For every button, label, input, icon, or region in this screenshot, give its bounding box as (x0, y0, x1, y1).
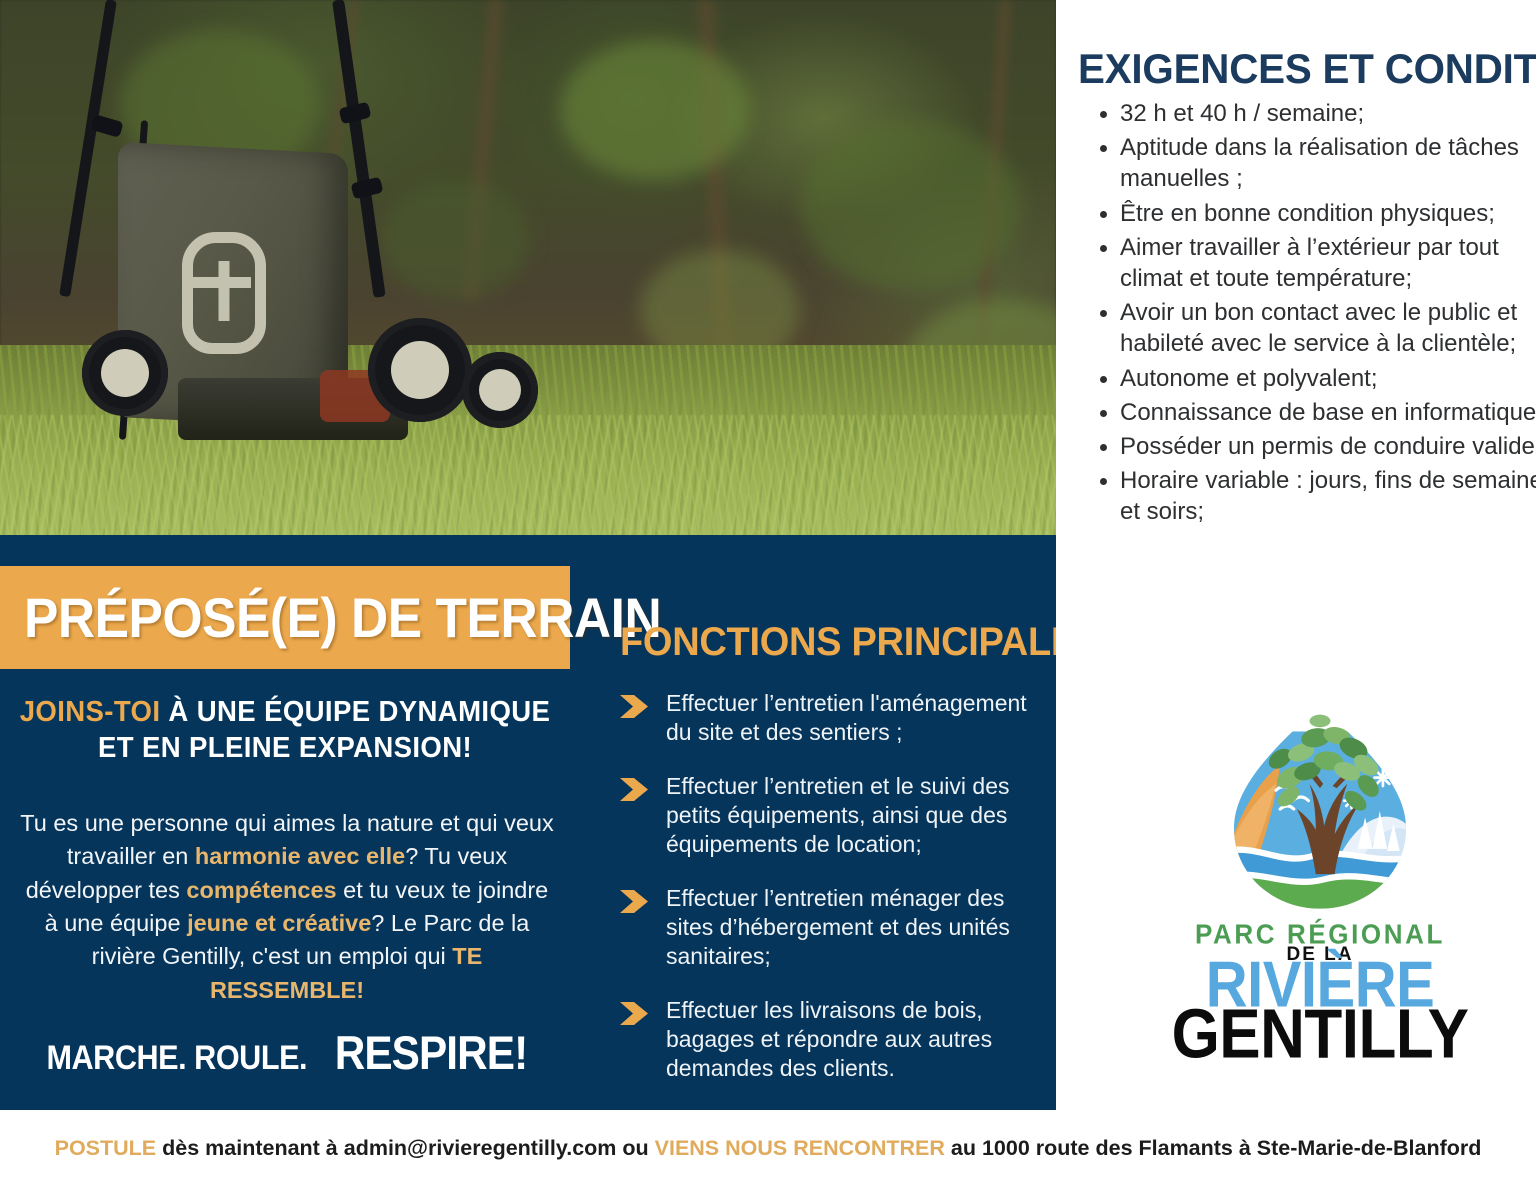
slogan-big: RESPIRE! (334, 1025, 527, 1080)
functions-list: Effectuer l’entretien l'aménagement du s… (620, 689, 1030, 1083)
tagline-rest: À UNE ÉQUIPE DYNAMIQUE ET EN PLEINE EXPA… (98, 696, 550, 764)
function-text: Effectuer les livraisons de bois, bagage… (666, 996, 1030, 1083)
function-text: Effectuer l’entretien ménager des sites … (666, 884, 1030, 971)
requirement-item: Horaire variable : jours, fins de semain… (1120, 465, 1536, 527)
lawn-mower (70, 0, 590, 500)
footer-cta-postule: POSTULE (55, 1136, 157, 1160)
requirement-item: Connaissance de base en informatique (1120, 397, 1536, 428)
function-item: Effectuer l’entretien ménager des sites … (620, 884, 1030, 971)
mower-wheel (82, 330, 168, 416)
function-item: Effectuer les livraisons de bois, bagage… (620, 996, 1030, 1083)
functions-section: FONCTIONS PRINCIPALES Effectuer l’entret… (620, 620, 1030, 1108)
footer-bar: POSTULE dès maintenant à admin@rivierege… (0, 1110, 1536, 1187)
requirement-item: Aptitude dans la réalisation de tâches m… (1120, 132, 1536, 194)
requirement-item: Autonome et polyvalent; (1120, 363, 1536, 394)
foliage-blob (800, 120, 1020, 290)
requirements-title: EXIGENCES ET CONDITIONS (1078, 45, 1536, 93)
tagline: JOINS-TOI À UNE ÉQUIPE DYNAMIQUE ET EN P… (14, 695, 556, 767)
logo-wordmark: PARC RÉGIONAL DE LA RIVIÈRE GENTILLY (1140, 921, 1500, 1066)
requirement-item: Posséder un permis de conduire valide; (1120, 431, 1536, 462)
chevron-right-icon (620, 776, 650, 803)
mower-wheel (462, 352, 538, 428)
handle-grip (339, 102, 372, 125)
footer-contact-line: POSTULE dès maintenant à admin@rivierege… (55, 1136, 1482, 1161)
footer-cta-rencontrer: VIENS NOUS RENCONTRER (655, 1136, 945, 1160)
hero-photo (0, 0, 1056, 535)
job-title: PRÉPOSÉ(E) DE TERRAIN (24, 585, 661, 650)
requirements-list: 32 h et 40 h / semaine; Aptitude dans la… (1100, 98, 1536, 530)
tagline-highlight: JOINS-TOI (20, 696, 161, 728)
requirement-item: 32 h et 40 h / semaine; (1120, 98, 1536, 129)
function-item: Effectuer l’entretien et le suivi des pe… (620, 772, 1030, 859)
function-text: Effectuer l’entretien et le suivi des pe… (666, 772, 1030, 859)
chevron-right-icon (620, 693, 650, 720)
function-item: Effectuer l’entretien l'aménagement du s… (620, 689, 1030, 747)
logo-block: PARC RÉGIONAL DE LA RIVIÈRE GENTILLY (1140, 700, 1500, 1066)
requirement-item: Avoir un bon contact avec le public et h… (1120, 297, 1536, 359)
slogan-small: MARCHE. ROULE. (47, 1039, 308, 1078)
footer-text-mid1: dès maintenant à admin@rivieregentilly.c… (156, 1136, 654, 1160)
parc-riviere-gentilly-emblem-icon (1215, 700, 1425, 915)
intro-paragraph: Tu es une personne qui aimes la nature e… (18, 807, 556, 1007)
chevron-right-icon (620, 888, 650, 915)
husqvarna-crown-icon (182, 232, 266, 354)
mower-wheel (368, 318, 472, 422)
slogan: MARCHE. ROULE.RESPIRE! (0, 1025, 570, 1080)
job-poster: PRÉPOSÉ(E) DE TERRAIN JOINS-TOI À UNE ÉQ… (0, 0, 1536, 1187)
functions-title: FONCTIONS PRINCIPALES (620, 620, 1010, 665)
job-title-band: PRÉPOSÉ(E) DE TERRAIN (0, 566, 570, 669)
footer-text-mid2: au 1000 route des Flamants à Ste-Marie-d… (945, 1136, 1481, 1160)
chevron-right-icon (620, 1000, 650, 1027)
navy-panel: PRÉPOSÉ(E) DE TERRAIN JOINS-TOI À UNE ÉQ… (0, 535, 1056, 1110)
requirement-item: Aimer travailler à l’extérieur par tout … (1120, 232, 1536, 294)
requirement-item: Être en bonne condition physiques; (1120, 198, 1536, 229)
logo-line-parc: PARC RÉGIONAL (1140, 920, 1500, 947)
handle-grip (351, 177, 384, 200)
logo-line-gentilly: GENTILLY (1140, 1000, 1500, 1069)
function-text: Effectuer l’entretien l'aménagement du s… (666, 689, 1030, 747)
